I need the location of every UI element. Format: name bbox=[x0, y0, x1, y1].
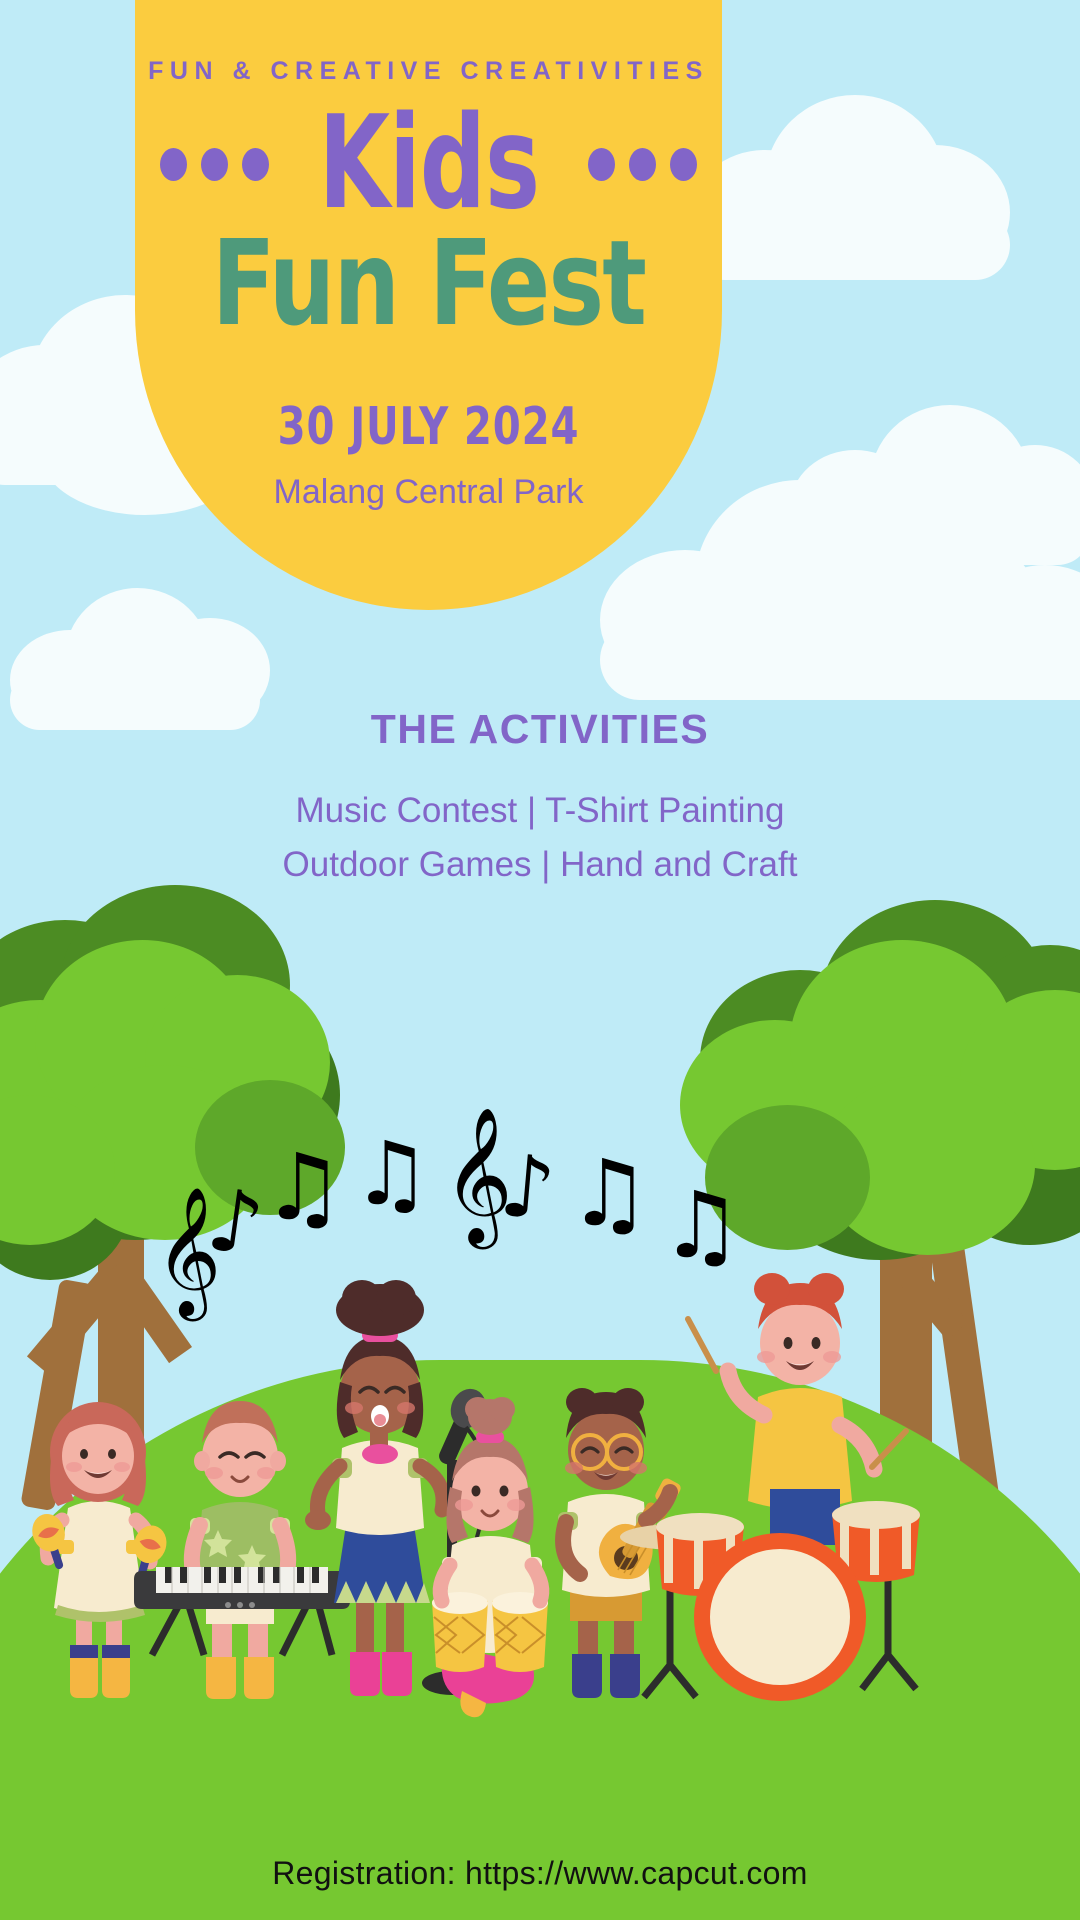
eighth-note-icon-2: ♪ bbox=[496, 1143, 558, 1233]
dots-right bbox=[588, 148, 697, 181]
tagline: FUN & CREATIVE CREATIVITIES bbox=[135, 57, 722, 86]
title-row-kids: Kids bbox=[135, 112, 722, 217]
activities-line-2: Outdoor Games | Hand and Craft bbox=[0, 845, 1080, 885]
eighth-note-icon: ♪ bbox=[202, 1177, 268, 1270]
title-fun-fest: Fun Fest bbox=[170, 223, 687, 343]
beamed-notes-icon-2: ♫ bbox=[352, 1130, 431, 1218]
event-venue: Malang Central Park bbox=[135, 473, 722, 512]
activities-line-1: Music Contest | T-Shirt Painting bbox=[0, 791, 1080, 831]
registration-text: Registration: https://www.capcut.com bbox=[0, 1855, 1080, 1892]
park-scene: 𝄞 ♪ ♫ ♫ 𝄞 ♪ ♫ ♫ bbox=[0, 880, 1080, 1920]
activities-section: THE ACTIVITIES Music Contest | T-Shirt P… bbox=[0, 706, 1080, 885]
grass-foreground bbox=[0, 1740, 1080, 1920]
activities-heading: THE ACTIVITIES bbox=[0, 706, 1080, 753]
dots-left bbox=[160, 148, 269, 181]
title-kids: Kids bbox=[318, 112, 539, 217]
event-date: 30 JULY 2024 bbox=[176, 397, 681, 457]
title-banner: FUN & CREATIVE CREATIVITIES Kids Fun Fes… bbox=[135, 0, 722, 610]
beamed-notes-icon-3: ♫ bbox=[568, 1148, 650, 1240]
poster-canvas: FUN & CREATIVE CREATIVITIES Kids Fun Fes… bbox=[0, 0, 1080, 1920]
beamed-notes-icon: ♫ bbox=[262, 1142, 344, 1234]
boy-at-drum-kit bbox=[620, 1245, 940, 1715]
